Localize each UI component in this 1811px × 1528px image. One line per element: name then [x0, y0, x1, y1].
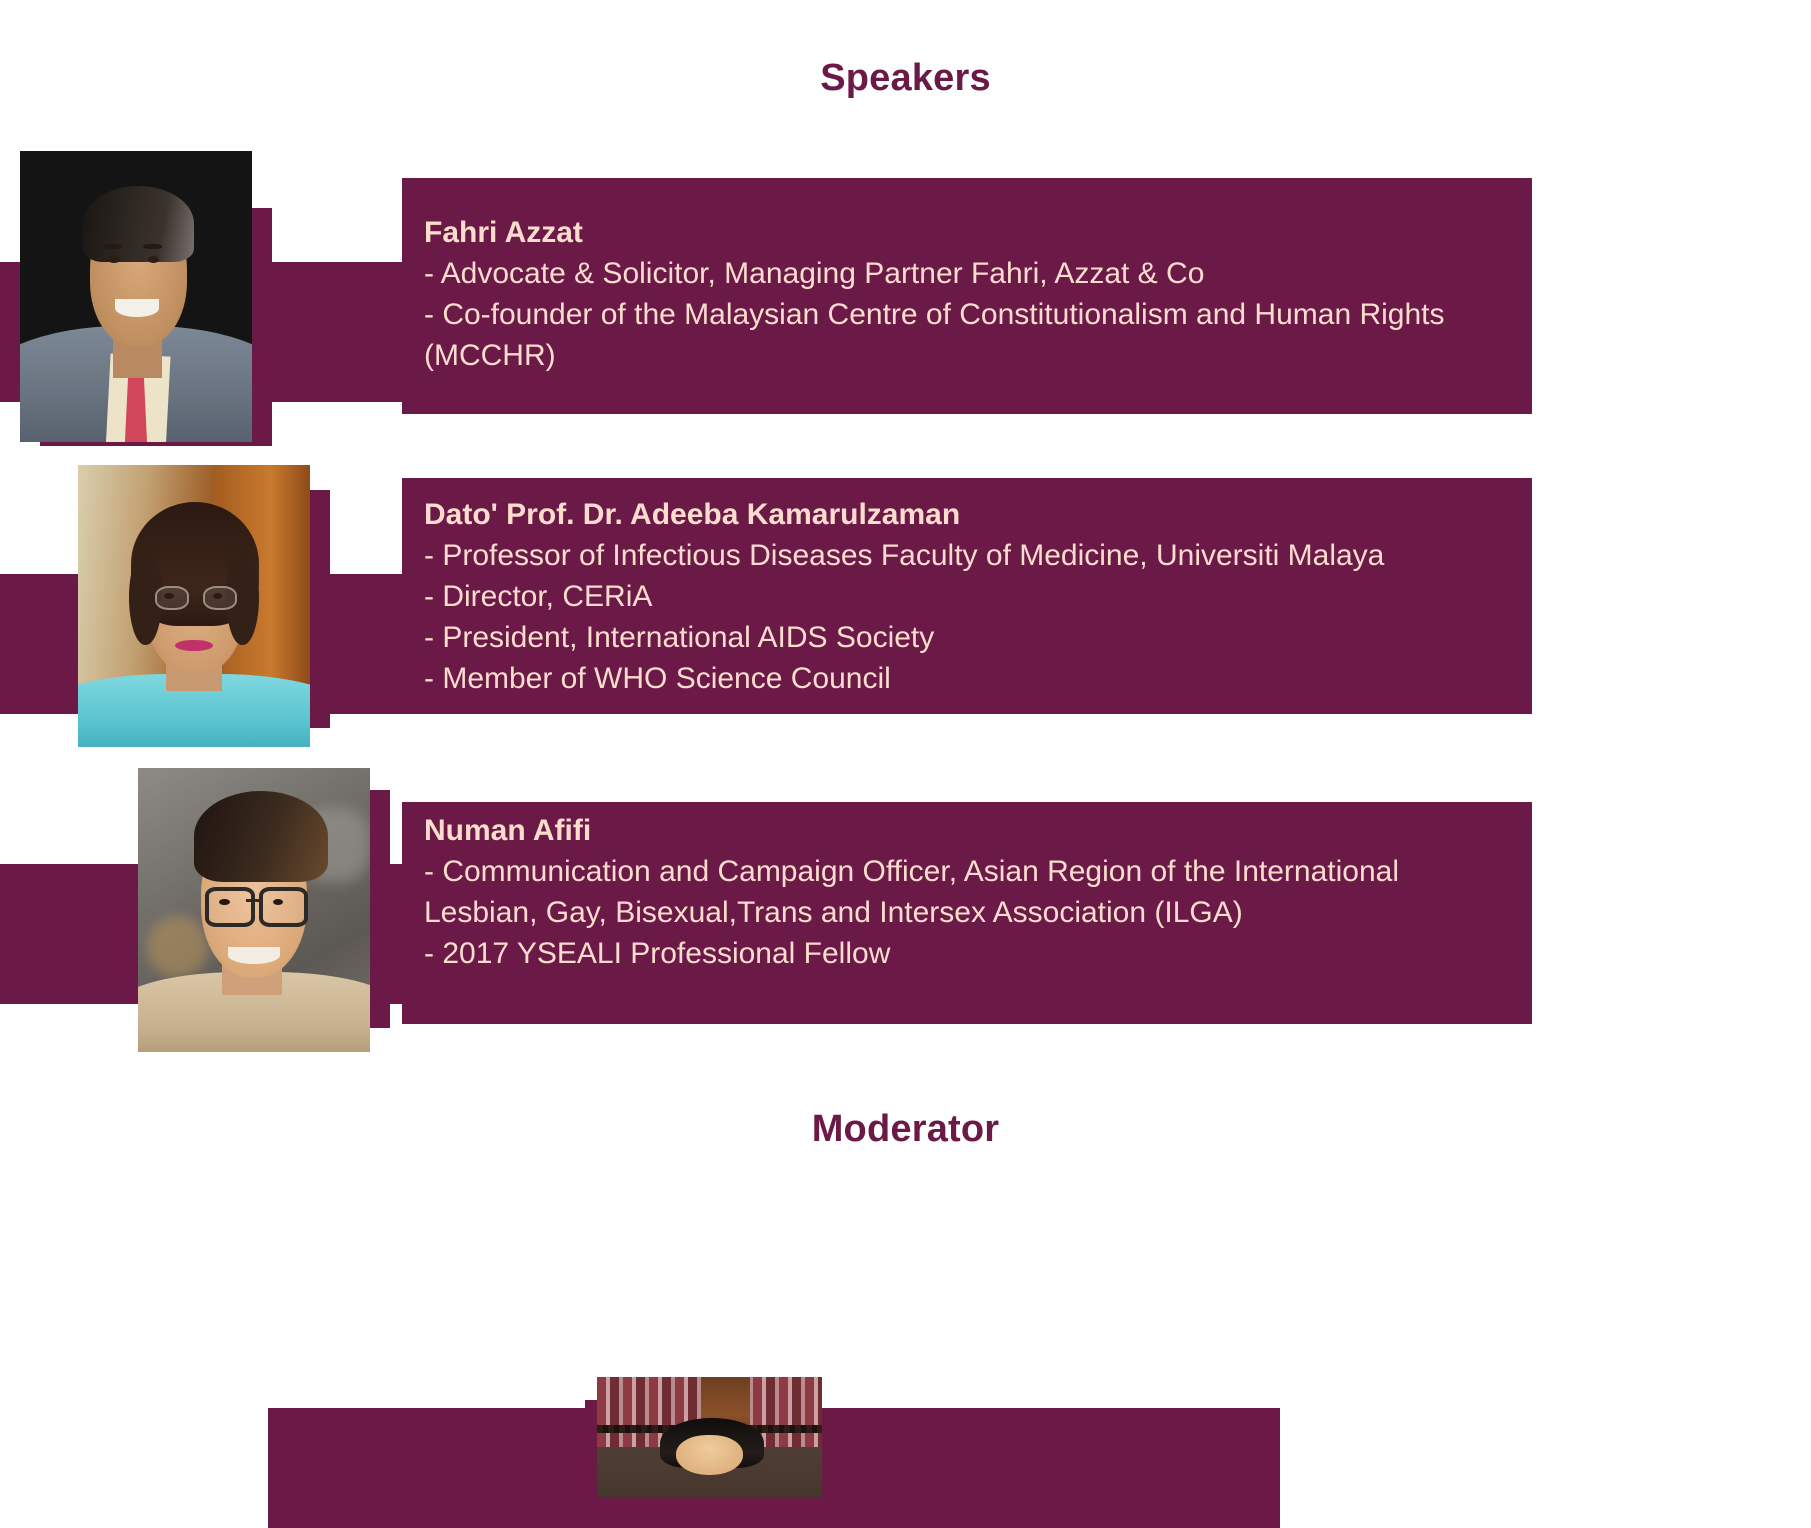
- page-title-speakers: Speakers: [0, 57, 1811, 100]
- photo-numan-afifi: [138, 768, 370, 1052]
- speaker-bullet-3-1: - 2017 YSEALI Professional Fellow: [424, 933, 1514, 974]
- speaker-bullet-2-2: - President, International AIDS Society: [424, 617, 1514, 658]
- page-title-moderator: Moderator: [0, 1108, 1811, 1151]
- speaker-bullet-2-1: - Director, CERiA: [424, 576, 1514, 617]
- speaker-bullet-2-0: - Professor of Infectious Diseases Facul…: [424, 535, 1514, 576]
- speaker-name-3: Numan Afifi: [424, 810, 1514, 851]
- photo-moderator: [597, 1377, 822, 1497]
- speaker-card-3: Numan Afifi - Communication and Campaign…: [402, 802, 1532, 1024]
- slide-root: Speakers Fahri Azzat - Advocate & Solici…: [0, 0, 1811, 1440]
- speaker-bullet-1-0: - Advocate & Solicitor, Managing Partner…: [424, 253, 1514, 294]
- speaker-card-1: Fahri Azzat - Advocate & Solicitor, Mana…: [402, 178, 1532, 414]
- speaker-card-2: Dato' Prof. Dr. Adeeba Kamarulzaman - Pr…: [402, 478, 1532, 714]
- speaker-name-1: Fahri Azzat: [424, 212, 1514, 253]
- speaker-name-2: Dato' Prof. Dr. Adeeba Kamarulzaman: [424, 494, 1514, 535]
- photo-adeeba-kamarulzaman: [78, 465, 310, 747]
- speaker-bullet-3-0: - Communication and Campaign Officer, As…: [424, 851, 1514, 933]
- speaker-bullet-2-3: - Member of WHO Science Council: [424, 658, 1514, 699]
- photo-fahri-azzat: [20, 151, 252, 442]
- speaker-bullet-1-1: - Co-founder of the Malaysian Centre of …: [424, 294, 1514, 376]
